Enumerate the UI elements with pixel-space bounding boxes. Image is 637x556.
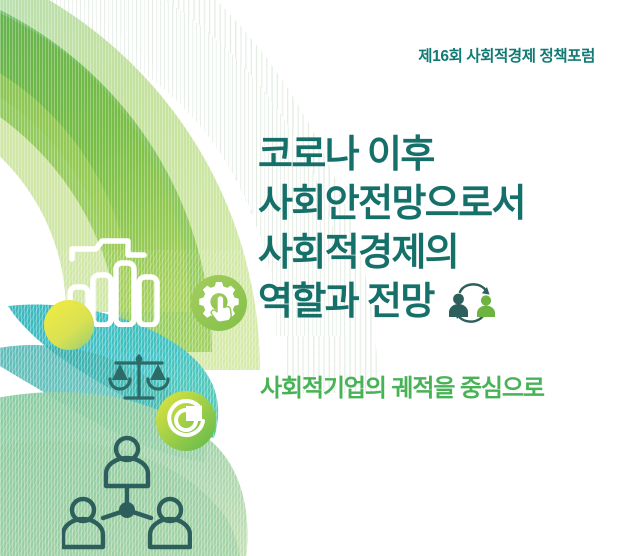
poster-subtitle: 사회적기업의 궤적을 중심으로	[260, 374, 544, 404]
yellow-circle-accent	[44, 300, 94, 350]
main-title-block: 코로나 이후 사회안전망으로서 사회적경제의 역할과 전망	[258, 131, 637, 327]
title-line-2: 사회안전망으로서	[258, 180, 637, 229]
people-network-icon	[62, 434, 192, 556]
title-line-1: 코로나 이후	[258, 131, 637, 180]
forum-poster: 제16회 사회적경제 정책포럼 코로나 이후 사회안전망으로서 사회적경제의 역…	[0, 0, 637, 556]
spiral-growth-icon	[155, 390, 217, 452]
title-line-4: 역할과 전망	[258, 278, 434, 327]
title-line-3: 사회적경제의	[258, 229, 637, 278]
text-column: 제16회 사회적경제 정책포럼 코로나 이후 사회안전망으로서 사회적경제의 역…	[258, 0, 637, 556]
gear-hand-click-icon	[190, 274, 248, 332]
forum-kicker: 제16회 사회적경제 정책포럼	[258, 44, 595, 66]
title-line-4-row: 역할과 전망	[258, 278, 637, 327]
people-exchange-icon	[443, 281, 501, 325]
